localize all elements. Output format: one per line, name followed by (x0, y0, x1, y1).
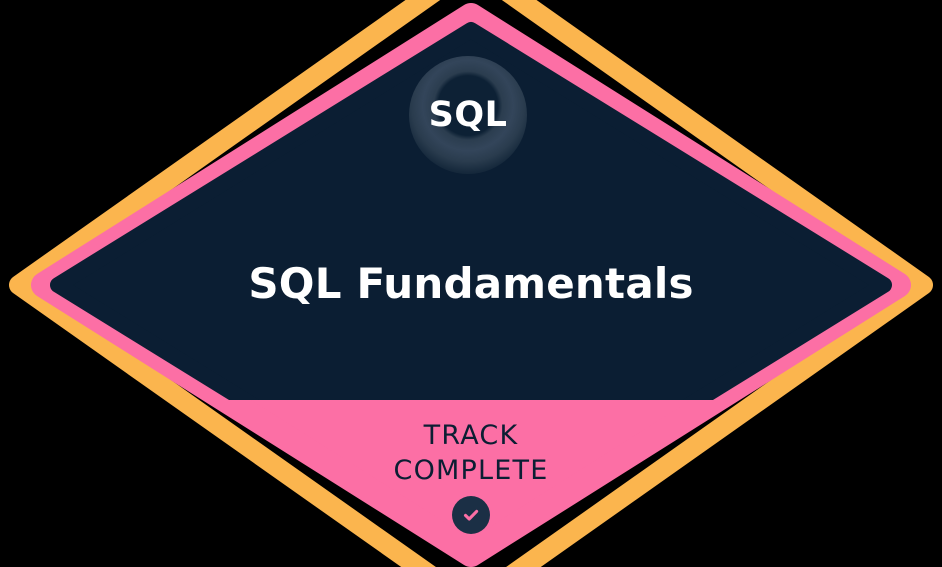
status-line-track: TRACK (0, 418, 942, 453)
status-check-wrap (0, 496, 942, 534)
track-title: SQL Fundamentals (0, 255, 942, 313)
emblem-label: SQL (429, 98, 508, 133)
check-circle-icon (452, 496, 490, 534)
track-status-block: TRACK COMPLETE (0, 418, 942, 534)
sql-emblem-circle-icon: SQL (409, 56, 527, 174)
track-badge-card: SQL SQL Fundamentals TRACK COMPLETE (0, 0, 942, 567)
status-line-complete: COMPLETE (0, 453, 942, 488)
